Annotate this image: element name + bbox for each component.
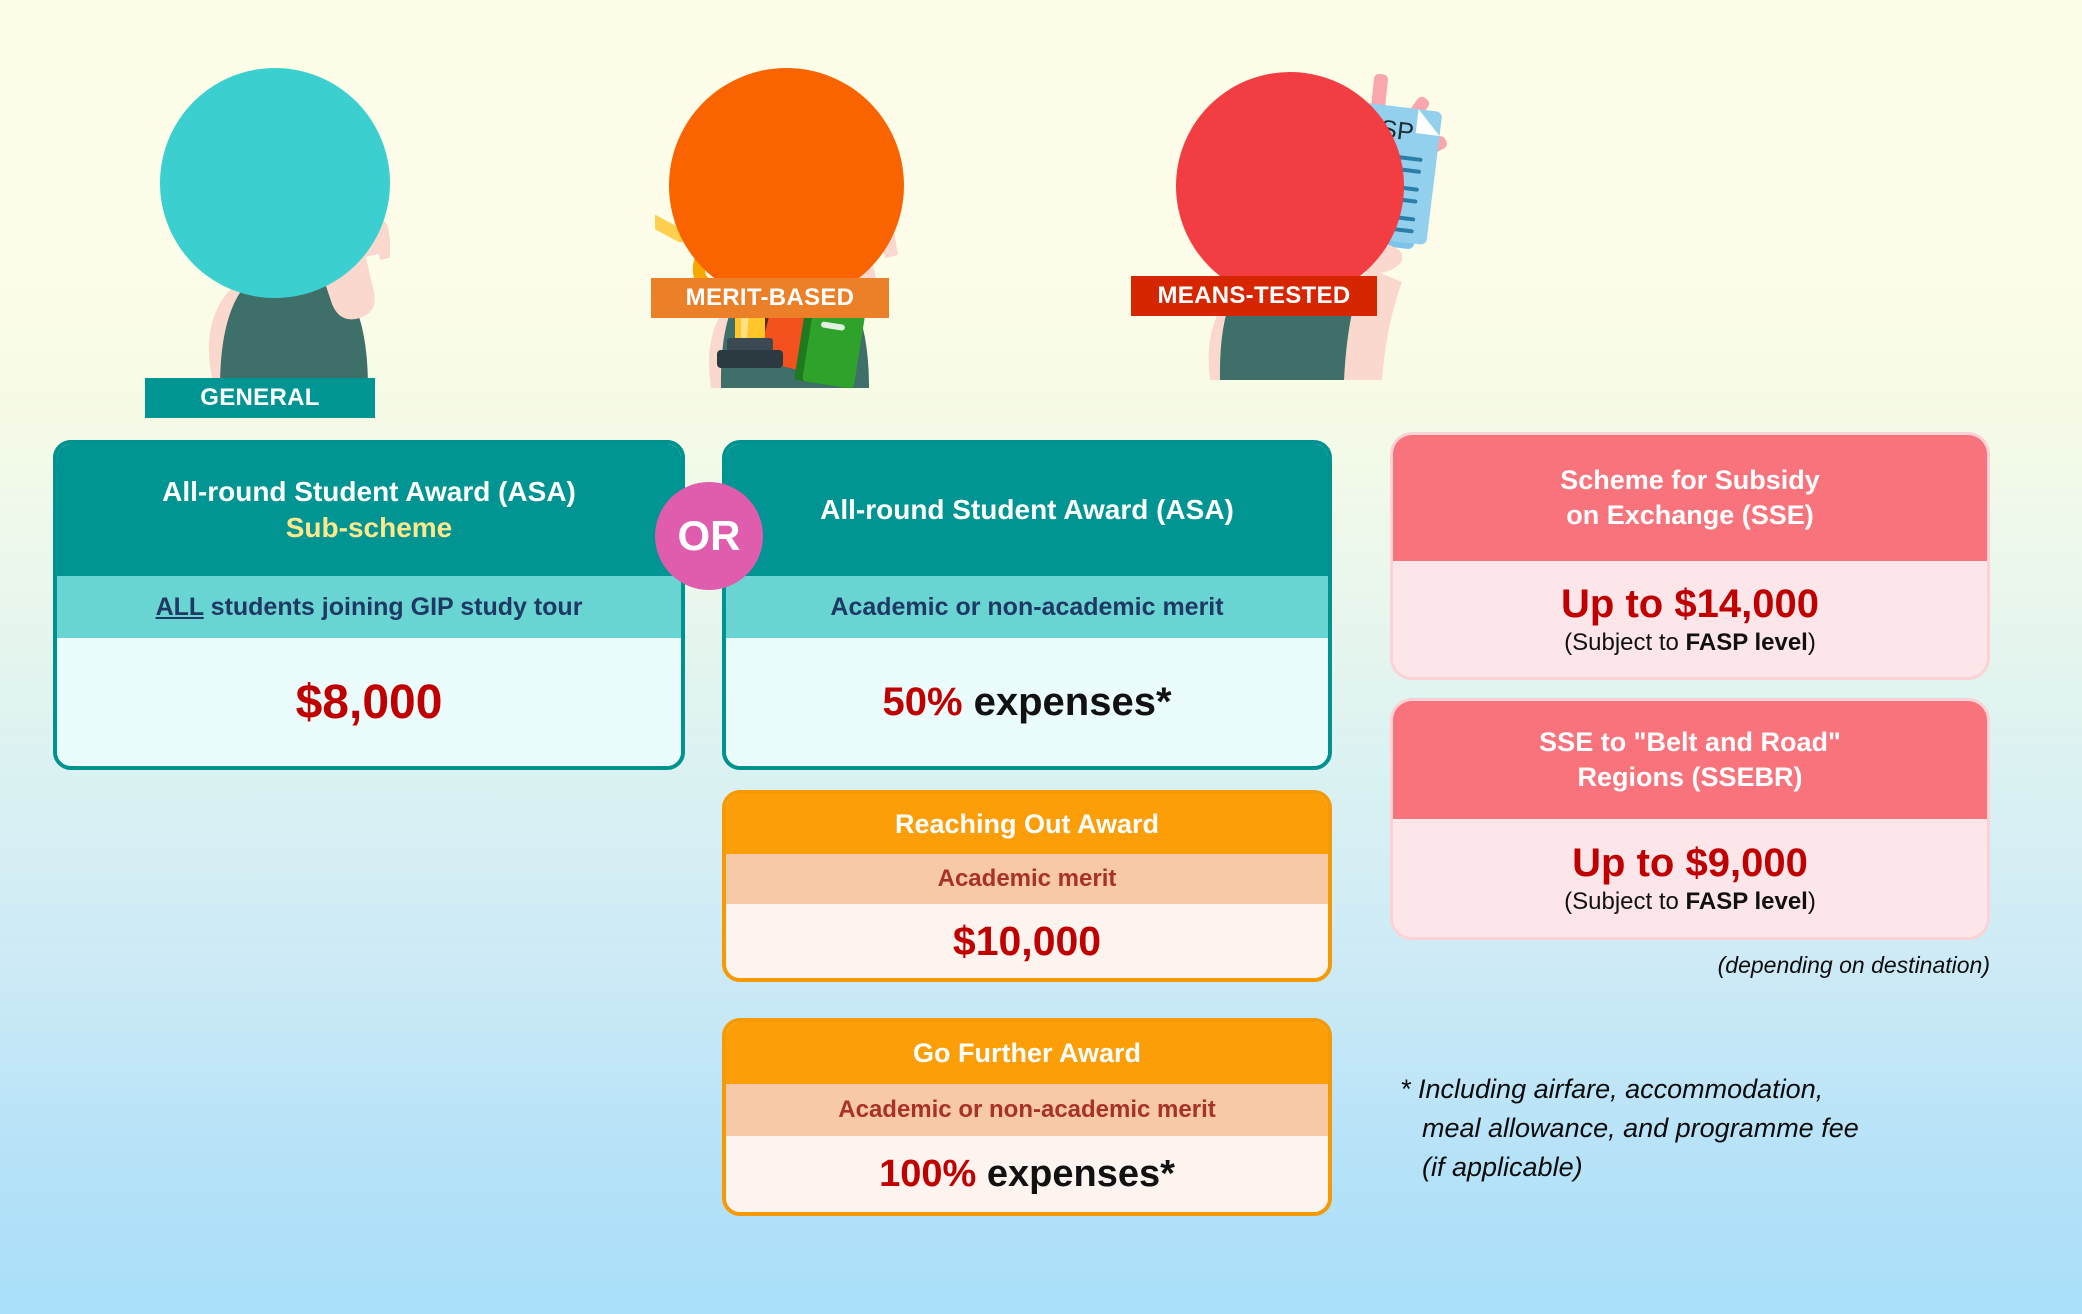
card-asa-merit-amount: 50% — [882, 680, 962, 724]
card-reaching-out-criteria-text: Academic merit — [938, 865, 1117, 893]
card-asa-sub-scheme-amount-area: $8,000 — [57, 638, 681, 766]
card-reaching-out-amount: $10,000 — [953, 918, 1101, 965]
illustration-general — [150, 58, 390, 388]
card-go-further-award[interactable]: Go Further Award Academic or non-academi… — [722, 1018, 1332, 1216]
card-go-further-amount-suffix: expenses* — [976, 1153, 1175, 1195]
card-ssebr-amount-prefix: Up to — [1572, 841, 1685, 885]
card-asa-merit-header: All-round Student Award (ASA) — [726, 444, 1328, 576]
card-asa-sub-scheme-title: All-round Student Award (ASA) — [162, 474, 576, 510]
card-sse-amount-prefix: Up to — [1561, 582, 1674, 626]
card-sse-amount-area: Up to $14,000 (Subject to FASP level) — [1393, 561, 1987, 677]
orange-circle-backdrop — [669, 68, 904, 303]
card-go-further-amount-area: 100% expenses* — [726, 1136, 1328, 1212]
card-asa-merit[interactable]: All-round Student Award (ASA) Academic o… — [722, 440, 1332, 770]
card-sse-amount: $14,000 — [1674, 582, 1819, 626]
card-ssebr-header: SSE to "Belt and Road" Regions (SSEBR) — [1393, 701, 1987, 819]
destination-note: (depending on destination) — [1390, 952, 1990, 979]
card-ssebr-subject-post: ) — [1808, 888, 1816, 915]
tab-merit-based-label: MERIT-BASED — [686, 284, 855, 312]
tab-merit-based: MERIT-BASED — [651, 278, 889, 318]
tab-general: GENERAL — [145, 378, 375, 418]
card-go-further-criteria-text: Academic or non-academic merit — [838, 1096, 1215, 1124]
destination-note-text: (depending on destination) — [1718, 952, 1990, 978]
card-ssebr-title-line1: SSE to "Belt and Road" — [1539, 725, 1841, 760]
card-ssebr-subject-pre: (Subject to — [1564, 888, 1685, 915]
card-asa-sub-scheme-subtitle: Sub-scheme — [286, 510, 453, 546]
card-reaching-out-criteria: Academic merit — [726, 854, 1328, 904]
tab-means-tested-label: MEANS-TESTED — [1158, 282, 1351, 310]
card-asa-sub-scheme-header: All-round Student Award (ASA) Sub-scheme — [57, 444, 681, 576]
or-badge: OR — [655, 482, 763, 590]
card-asa-sub-scheme-amount: $8,000 — [296, 675, 443, 730]
card-reaching-out-award[interactable]: Reaching Out Award Academic merit $10,00… — [722, 790, 1332, 982]
card-sse-subject-bold: FASP level — [1686, 629, 1808, 656]
card-ssebr-amount-area: Up to $9,000 (Subject to FASP level) — [1393, 819, 1987, 937]
footnote: * Including airfare, accommodation, meal… — [1400, 1070, 2040, 1187]
card-reaching-out-header: Reaching Out Award — [726, 794, 1328, 854]
card-asa-merit-title: All-round Student Award (ASA) — [820, 494, 1234, 526]
card-asa-sub-scheme-body[interactable]: All-round Student Award (ASA) Sub-scheme… — [53, 440, 685, 770]
tab-general-label: GENERAL — [200, 384, 319, 412]
tab-means-tested: MEANS-TESTED — [1131, 276, 1377, 316]
criteria-emphasis: ALL — [156, 593, 204, 621]
card-ssebr[interactable]: SSE to "Belt and Road" Regions (SSEBR) U… — [1390, 698, 1990, 940]
card-sse-title-line2: on Exchange (SSE) — [1566, 498, 1814, 533]
card-go-further-title: Go Further Award — [913, 1038, 1141, 1069]
footnote-line-3: (if applicable) — [1400, 1148, 2040, 1187]
card-ssebr-amount: $9,000 — [1685, 841, 1807, 885]
card-sse-header: Scheme for Subsidy on Exchange (SSE) — [1393, 435, 1987, 561]
card-asa-merit-criteria-text: Academic or non-academic merit — [830, 593, 1223, 622]
card-asa-sub-scheme-criteria: ALL students joining GIP study tour — [57, 576, 681, 638]
illustration-merit-based — [655, 58, 905, 388]
card-sse[interactable]: Scheme for Subsidy on Exchange (SSE) Up … — [1390, 432, 1990, 680]
or-badge-label: OR — [678, 512, 741, 560]
card-ssebr-subject-bold: FASP level — [1686, 888, 1808, 915]
card-sse-subject-pre: (Subject to — [1564, 629, 1685, 656]
card-asa-merit-amount-suffix: expenses* — [963, 680, 1172, 724]
footnote-line-2: meal allowance, and programme fee — [1400, 1109, 2040, 1148]
card-ssebr-title-line2: Regions (SSEBR) — [1577, 760, 1802, 795]
card-go-further-criteria: Academic or non-academic merit — [726, 1084, 1328, 1136]
card-go-further-header: Go Further Award — [726, 1022, 1328, 1084]
illustration-means-tested: FASP — [1158, 50, 1468, 380]
teal-circle-backdrop — [160, 68, 390, 298]
card-sse-subject-post: ) — [1808, 629, 1816, 656]
card-asa-merit-amount-area: 50% expenses* — [726, 638, 1328, 766]
card-asa-merit-criteria: Academic or non-academic merit — [726, 576, 1328, 638]
card-go-further-amount: 100% — [879, 1153, 976, 1195]
card-reaching-out-amount-area: $10,000 — [726, 904, 1328, 978]
card-sse-title-line1: Scheme for Subsidy — [1560, 463, 1820, 498]
card-reaching-out-title: Reaching Out Award — [895, 809, 1159, 840]
criteria-text: students joining GIP study tour — [204, 593, 583, 621]
infographic-board: GENERAL — [0, 0, 2082, 1314]
red-circle-backdrop — [1176, 72, 1404, 300]
footnote-line-1: * Including airfare, accommodation, — [1400, 1070, 2040, 1109]
